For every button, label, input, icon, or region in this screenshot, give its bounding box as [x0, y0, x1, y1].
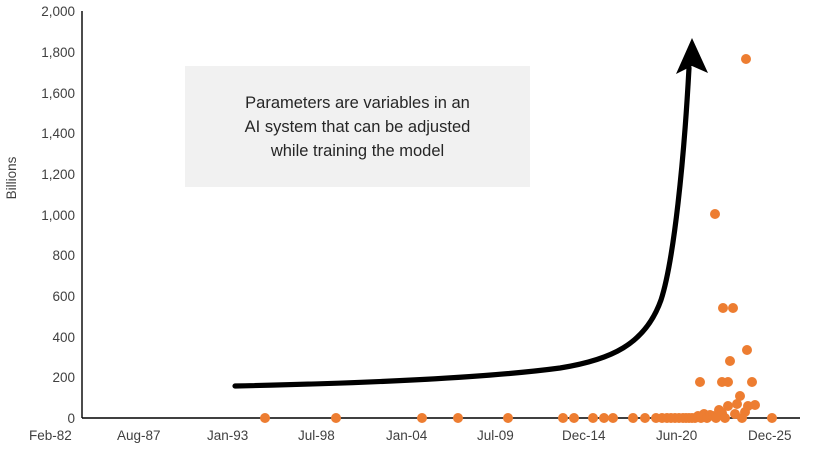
x-tick-label: Jan-04	[386, 428, 427, 443]
y-tick-label: 400	[52, 330, 75, 345]
y-tick-label: 1,800	[41, 45, 75, 60]
data-point	[569, 413, 579, 423]
data-point	[723, 377, 733, 387]
y-axis-title: Billions	[4, 156, 19, 199]
x-tick-label: Dec-25	[748, 428, 792, 443]
y-tick-label: 200	[52, 370, 75, 385]
data-point	[695, 377, 705, 387]
data-point	[767, 413, 777, 423]
annotation-box: Parameters are variables in an AI system…	[185, 66, 530, 187]
annotation-text: Parameters are variables in an AI system…	[235, 91, 481, 163]
y-tick-label: 1,200	[41, 167, 75, 182]
x-tick-label: Jul-98	[298, 428, 335, 443]
data-point	[725, 356, 735, 366]
x-tick-label: Feb-82	[29, 428, 72, 443]
x-tick-label: Aug-87	[117, 428, 161, 443]
data-point	[260, 413, 270, 423]
data-point	[728, 303, 738, 313]
x-tick-label: Dec-14	[562, 428, 606, 443]
data-point	[640, 413, 650, 423]
data-point	[608, 413, 618, 423]
y-tick-label: 0	[67, 411, 75, 426]
y-tick-label: 2,000	[41, 4, 75, 19]
data-point	[742, 345, 752, 355]
data-point	[417, 413, 427, 423]
data-point	[628, 413, 638, 423]
chart-container: Billions 2,000 1,800 1,600 1,400 1,200 1…	[0, 0, 828, 458]
data-point	[710, 209, 720, 219]
data-point	[750, 400, 760, 410]
data-point	[503, 413, 513, 423]
y-tick-label: 1,000	[41, 208, 75, 223]
data-point	[720, 413, 730, 423]
trend-arrow-head-icon	[676, 38, 708, 74]
y-tick-label: 600	[52, 289, 75, 304]
data-point	[718, 303, 728, 313]
data-point	[723, 401, 733, 411]
data-point	[453, 413, 463, 423]
data-point	[747, 377, 757, 387]
x-tick-label: Jan-93	[207, 428, 248, 443]
y-tick-label: 1,400	[41, 126, 75, 141]
data-point	[588, 413, 598, 423]
data-point	[735, 391, 745, 401]
y-tick-label: 1,600	[41, 86, 75, 101]
data-point	[331, 413, 341, 423]
data-point	[558, 413, 568, 423]
x-tick-label: Jun-20	[656, 428, 697, 443]
data-point	[741, 54, 751, 64]
x-tick-label: Jul-09	[477, 428, 514, 443]
y-tick-label: 800	[52, 248, 75, 263]
data-point	[599, 413, 609, 423]
